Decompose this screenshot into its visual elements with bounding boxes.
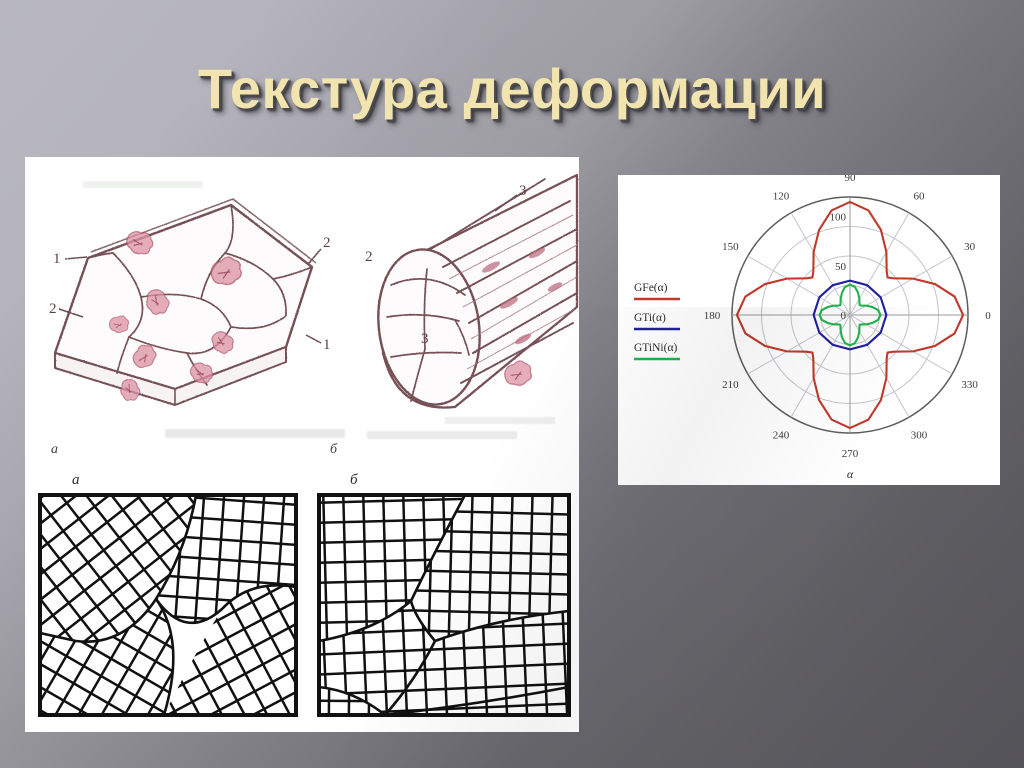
svg-text:2: 2: [49, 301, 57, 317]
polar-angle-tick-60: 60: [914, 190, 926, 202]
polar-chart: 0306090120150180210240270300330 050100 G…: [618, 175, 1000, 485]
svg-text:2: 2: [323, 235, 331, 251]
polar-radial-tick-50: 50: [835, 261, 847, 273]
polar-angle-tick-150: 150: [722, 241, 739, 253]
polar-angle-tick-240: 240: [773, 430, 790, 442]
polar-radial-tick-0: 0: [841, 310, 847, 322]
sketch-part-label-a: а: [51, 442, 58, 458]
lattice-textured-orientation: [315, 491, 573, 719]
polar-radial-tick-100: 100: [830, 212, 847, 224]
slide-canvas: Текстура деформации: [0, 0, 1024, 768]
page-title: Текстура деформации: [0, 56, 1024, 121]
lattice-random-orientation: [36, 491, 300, 719]
sketch-part-label-b: б: [330, 442, 337, 458]
legend-label-2: GTiNi(α): [634, 342, 677, 354]
legend-label-0: GFe(α): [634, 282, 668, 294]
figure-panel-grain-sketch: 1 2 2 1: [25, 157, 579, 469]
svg-text:1: 1: [53, 251, 61, 267]
figure-panel-polar-chart: 0306090120150180210240270300330 050100 G…: [618, 175, 1000, 485]
lattice-a-caption: а: [72, 472, 80, 489]
polar-angle-tick-300: 300: [911, 430, 928, 442]
polar-angle-tick-0: 0: [985, 310, 991, 322]
polar-angle-tick-180: 180: [704, 310, 721, 322]
lattice-b-caption: б: [350, 472, 358, 489]
legend-label-1: GTi(α): [634, 312, 666, 324]
svg-text:3: 3: [519, 183, 527, 199]
polar-angle-tick-30: 30: [964, 241, 976, 253]
svg-text:3: 3: [421, 331, 429, 347]
svg-text:2: 2: [365, 249, 373, 265]
polar-angle-tick-210: 210: [722, 379, 739, 391]
polar-angle-tick-120: 120: [773, 190, 790, 202]
polar-angle-tick-90: 90: [845, 175, 857, 184]
polar-angle-tick-270: 270: [842, 448, 859, 460]
polar-angle-tick-330: 330: [961, 379, 978, 391]
polar-axis-label: α: [847, 467, 854, 481]
svg-text:1: 1: [323, 337, 331, 353]
grain-structure-sketch: 1 2 2 1: [25, 157, 579, 469]
figure-panel-lattice: а б: [25, 469, 579, 732]
